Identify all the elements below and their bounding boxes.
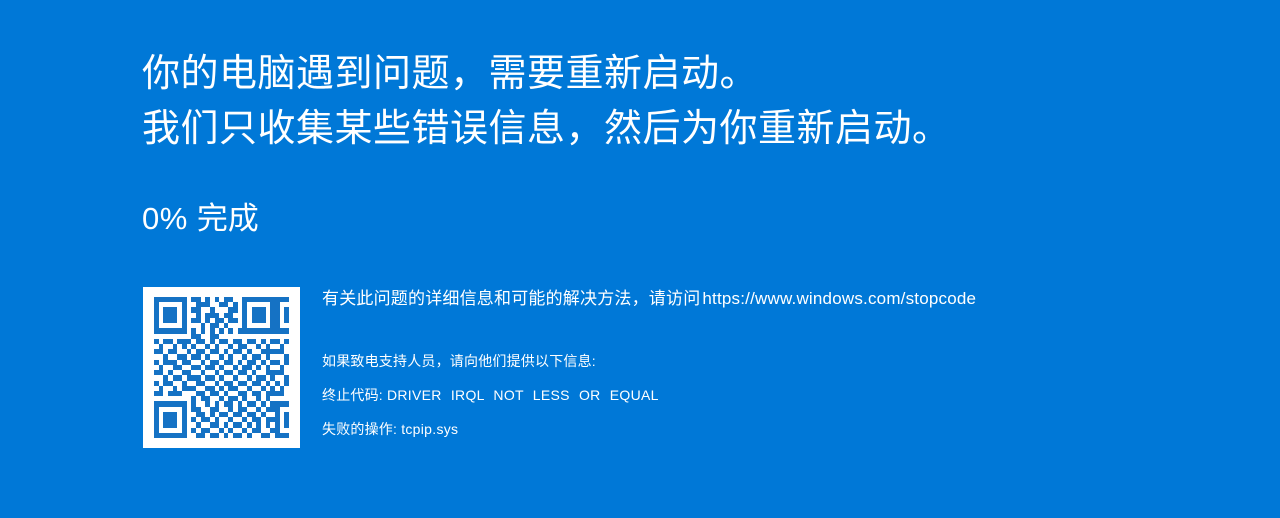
failed-operation-line: 失败的操作: tcpip.sys (322, 412, 659, 446)
qr-code (143, 287, 300, 448)
bsod-info-area: 有关此问题的详细信息和可能的解决方法，请访问https://www.window… (143, 287, 1143, 452)
bsod-info-text: 有关此问题的详细信息和可能的解决方法，请访问https://www.window… (322, 287, 1142, 311)
stopcode-url: https://www.windows.com/stopcode (702, 289, 976, 308)
headline-line-1: 你的电脑遇到问题，需要重新启动。 (142, 47, 951, 102)
progress-status: 0%完成 (142, 198, 259, 240)
failed-operation-label: 失败的操作: (322, 421, 397, 437)
more-info-line: 有关此问题的详细信息和可能的解决方法，请访问https://www.window… (322, 287, 1142, 311)
progress-percent: 0% (142, 201, 188, 236)
bsod-headline: 你的电脑遇到问题，需要重新启动。 我们只收集某些错误信息，然后为你重新启动。 (142, 47, 951, 157)
bsod-screen: 你的电脑遇到问题，需要重新启动。 我们只收集某些错误信息，然后为你重新启动。 0… (0, 0, 1280, 518)
support-prompt: 如果致电支持人员，请向他们提供以下信息: (322, 344, 659, 378)
support-details: 如果致电支持人员，请向他们提供以下信息: 终止代码: DRIVER IRQL N… (322, 344, 659, 446)
qr-code-matrix (154, 297, 289, 438)
headline-line-2: 我们只收集某些错误信息，然后为你重新启动。 (142, 102, 951, 157)
failed-operation-value: tcpip.sys (401, 421, 458, 437)
stopcode-label: 终止代码: (322, 387, 383, 403)
stopcode-line: 终止代码: DRIVER IRQL NOT LESS OR EQUAL (322, 378, 659, 412)
progress-label: 完成 (197, 201, 259, 236)
more-info-text: 有关此问题的详细信息和可能的解决方法，请访问 (322, 289, 700, 308)
stopcode-value: DRIVER IRQL NOT LESS OR EQUAL (387, 387, 659, 403)
